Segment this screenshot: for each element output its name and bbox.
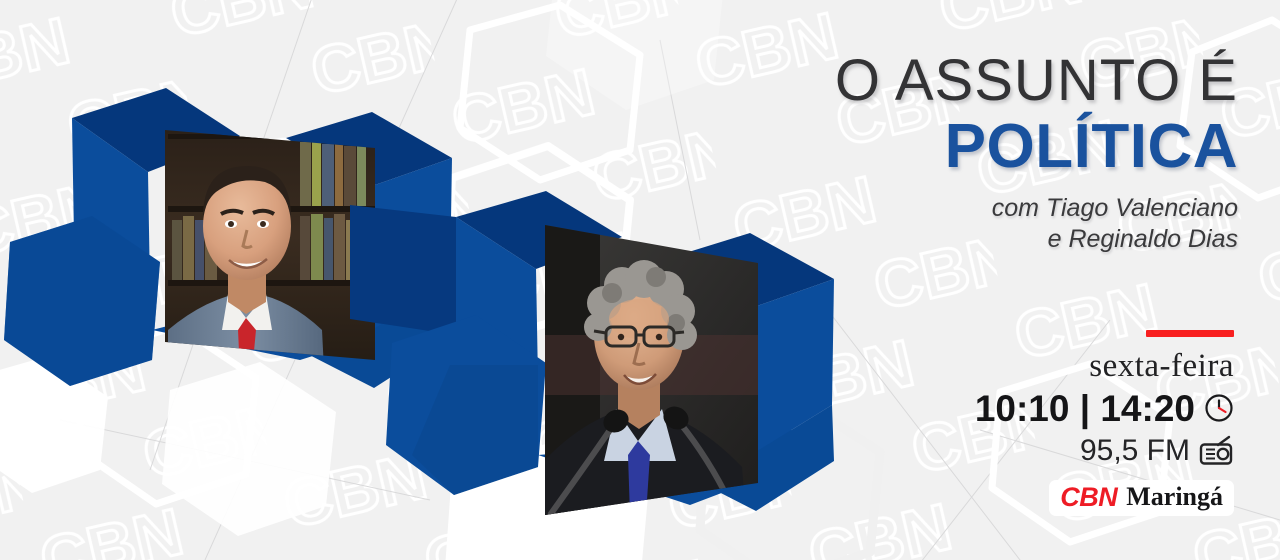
schedule-frequency-row: 95,5 FM	[914, 435, 1234, 467]
frame2-facet-far-left	[350, 205, 456, 335]
program-promo-banner: CBN CBN	[0, 0, 1280, 560]
schedule-divider-rule	[1146, 330, 1234, 337]
radio-icon	[1198, 435, 1234, 467]
schedule-day: sexta-feira	[914, 349, 1234, 384]
station-frequency: 95,5 FM	[1080, 436, 1190, 466]
schedule-times-row: 10:10 | 14:20	[914, 390, 1234, 427]
broadcast-schedule-block: sexta-feira 10:10 | 14:20 95,5 FM CBN M	[914, 330, 1234, 516]
clock-icon	[1204, 393, 1234, 423]
station-logo-lockup: CBN Maringá	[1049, 480, 1234, 516]
program-title-block: O ASSUNTO É POLÍTICA com Tiago Valencian…	[718, 52, 1238, 254]
cbn-network-logo: CBN	[1060, 484, 1117, 511]
host-name-line-2: e Reginaldo Dias	[718, 224, 1238, 255]
host-photo-tiago-valenciano	[160, 125, 380, 372]
program-hosts: com Tiago Valenciano e Reginaldo Dias	[718, 193, 1238, 254]
photo-cluster-reginaldo	[390, 215, 850, 560]
program-title-secondary: POLÍTICA	[718, 114, 1238, 179]
station-city-name: Maringá	[1126, 484, 1223, 510]
host-name-line-1: com Tiago Valenciano	[718, 193, 1238, 224]
host-photo-reginaldo-dias	[540, 215, 765, 520]
program-title-primary: O ASSUNTO É	[718, 52, 1238, 110]
schedule-times: 10:10 | 14:20	[975, 390, 1195, 427]
